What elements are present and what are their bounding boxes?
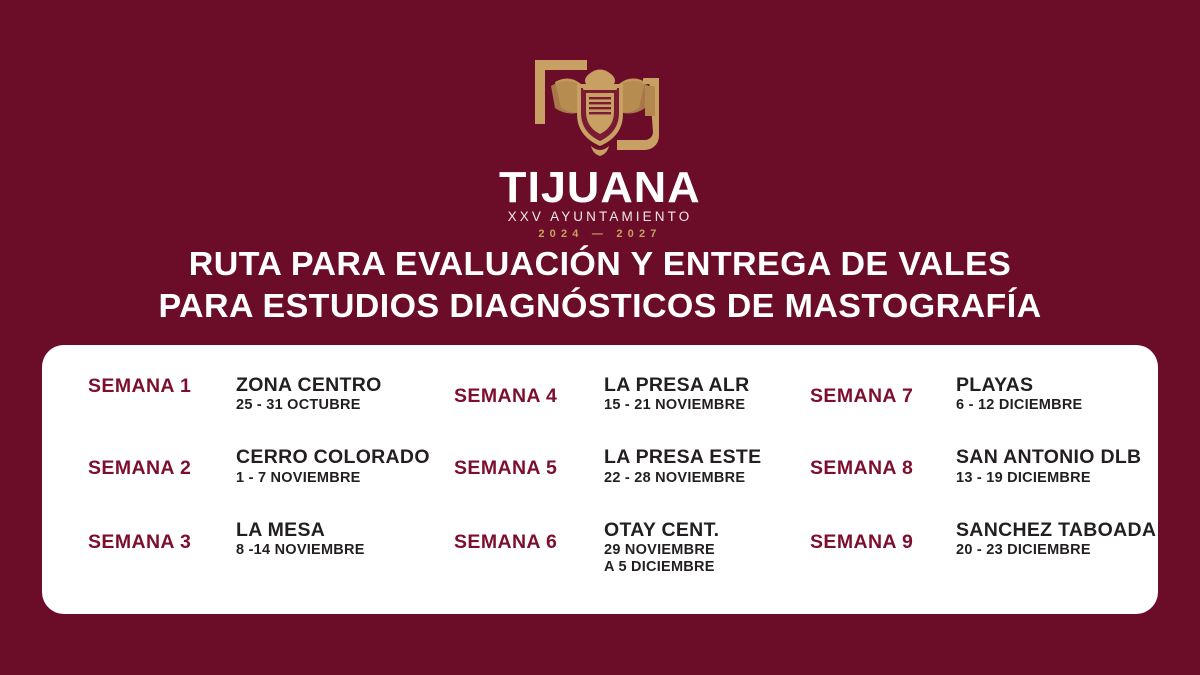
tijuana-coat-of-arms-icon (525, 52, 675, 164)
entry-dates: 13 - 19 DICIEMBRE (956, 470, 1164, 487)
zone-name: SANCHEZ TABOADA (956, 520, 1164, 540)
date-line: 8 -14 NOVIEMBRE (236, 542, 440, 559)
date-line: 25 - 31 OCTUBRE (236, 397, 440, 414)
entry-info: LA MESA 8 -14 NOVIEMBRE (236, 520, 440, 560)
date-line: 22 - 28 NOVIEMBRE (604, 470, 792, 487)
date-line: 29 NOVIEMBRE (604, 542, 792, 559)
schedule-card: SEMANA 1 ZONA CENTRO 25 - 31 OCTUBRE SEM… (42, 345, 1158, 614)
week-label: SEMANA 7 (810, 385, 956, 408)
date-line: 13 - 19 DICIEMBRE (956, 470, 1164, 487)
week-label: SEMANA 4 (454, 385, 604, 408)
logo-term-years: 2024 — 2027 (538, 228, 661, 240)
date-line: A 5 DICIEMBRE (604, 559, 792, 576)
entry-info: CERRO COLORADO 1 - 7 NOVIEMBRE (236, 447, 440, 487)
schedule-entry: SEMANA 3 LA MESA 8 -14 NOVIEMBRE (88, 520, 440, 592)
entry-info: LA PRESA ESTE 22 - 28 NOVIEMBRE (604, 447, 792, 487)
schedule-entry: SEMANA 7 PLAYAS 6 - 12 DICIEMBRE (792, 375, 1164, 447)
entry-dates: 22 - 28 NOVIEMBRE (604, 470, 792, 487)
entry-info: SAN ANTONIO DLB 13 - 19 DICIEMBRE (956, 447, 1164, 487)
schedule-entry: SEMANA 9 SANCHEZ TABOADA 20 - 23 DICIEMB… (792, 520, 1164, 592)
entry-dates: 8 -14 NOVIEMBRE (236, 542, 440, 559)
zone-name: ZONA CENTRO (236, 375, 440, 395)
date-line: 15 - 21 NOVIEMBRE (604, 397, 792, 414)
tijuana-logo: TIJUANA XXV AYUNTAMIENTO 2024 — 2027 (0, 52, 1200, 240)
entry-dates: 6 - 12 DICIEMBRE (956, 397, 1164, 414)
week-label: SEMANA 6 (454, 531, 604, 554)
page-title: RUTA PARA EVALUACIÓN Y ENTREGA DE VALES … (0, 243, 1200, 326)
schedule-entry: SEMANA 1 ZONA CENTRO 25 - 31 OCTUBRE (88, 375, 440, 447)
zone-name: LA MESA (236, 520, 440, 540)
week-label: SEMANA 9 (810, 531, 956, 554)
entry-dates: 25 - 31 OCTUBRE (236, 397, 440, 414)
entry-info: LA PRESA ALR 15 - 21 NOVIEMBRE (604, 375, 792, 415)
date-line: 1 - 7 NOVIEMBRE (236, 470, 440, 487)
zone-name: PLAYAS (956, 375, 1164, 395)
poster-root: TIJUANA XXV AYUNTAMIENTO 2024 — 2027 RUT… (0, 0, 1200, 675)
logo-subtitle: XXV AYUNTAMIENTO (508, 210, 693, 225)
entry-dates: 29 NOVIEMBRE A 5 DICIEMBRE (604, 542, 792, 577)
week-label: SEMANA 8 (810, 457, 956, 480)
entry-dates: 1 - 7 NOVIEMBRE (236, 470, 440, 487)
zone-name: LA PRESA ALR (604, 375, 792, 395)
entry-info: SANCHEZ TABOADA 20 - 23 DICIEMBRE (956, 520, 1164, 560)
schedule-entry: SEMANA 5 LA PRESA ESTE 22 - 28 NOVIEMBRE (440, 447, 792, 519)
logo-city-name: TIJUANA (499, 166, 701, 209)
week-label: SEMANA 5 (454, 457, 604, 480)
zone-name: OTAY CENT. (604, 520, 792, 540)
schedule-entry: SEMANA 2 CERRO COLORADO 1 - 7 NOVIEMBRE (88, 447, 440, 519)
entry-info: PLAYAS 6 - 12 DICIEMBRE (956, 375, 1164, 415)
schedule-entry: SEMANA 4 LA PRESA ALR 15 - 21 NOVIEMBRE (440, 375, 792, 447)
date-line: 20 - 23 DICIEMBRE (956, 542, 1164, 559)
zone-name: SAN ANTONIO DLB (956, 447, 1164, 467)
week-label: SEMANA 2 (88, 457, 236, 480)
entry-dates: 20 - 23 DICIEMBRE (956, 542, 1164, 559)
schedule-grid: SEMANA 1 ZONA CENTRO 25 - 31 OCTUBRE SEM… (42, 345, 1158, 614)
date-line: 6 - 12 DICIEMBRE (956, 397, 1164, 414)
week-label: SEMANA 1 (88, 375, 236, 398)
schedule-entry: SEMANA 6 OTAY CENT. 29 NOVIEMBRE A 5 DIC… (440, 520, 792, 592)
zone-name: CERRO COLORADO (236, 447, 440, 467)
entry-dates: 15 - 21 NOVIEMBRE (604, 397, 792, 414)
zone-name: LA PRESA ESTE (604, 447, 792, 467)
page-title-line2: PARA ESTUDIOS DIAGNÓSTICOS DE MASTOGRAFÍ… (0, 285, 1200, 327)
page-title-line1: RUTA PARA EVALUACIÓN Y ENTREGA DE VALES (189, 245, 1011, 282)
schedule-entry: SEMANA 8 SAN ANTONIO DLB 13 - 19 DICIEMB… (792, 447, 1164, 519)
week-label: SEMANA 3 (88, 531, 236, 554)
entry-info: OTAY CENT. 29 NOVIEMBRE A 5 DICIEMBRE (604, 520, 792, 577)
entry-info: ZONA CENTRO 25 - 31 OCTUBRE (236, 375, 440, 415)
